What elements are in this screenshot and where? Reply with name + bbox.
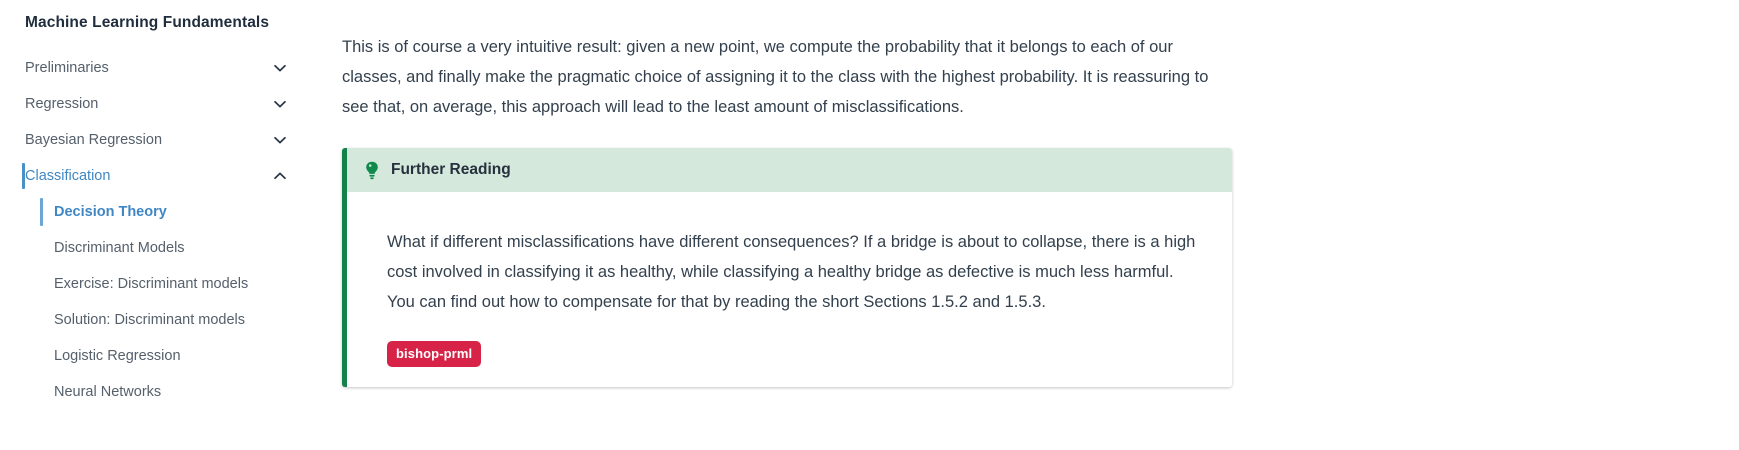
body-paragraph: This is of course a very intuitive resul…: [342, 32, 1232, 122]
status-badge[interactable]: bishop-prml: [387, 341, 481, 367]
sidebar-item-solution-discriminant-models[interactable]: Solution: Discriminant models: [0, 302, 305, 338]
sidebar-item-label: Classification: [25, 166, 110, 186]
chevron-down-icon[interactable]: [272, 60, 288, 76]
sidebar-subitem-label: Decision Theory: [54, 202, 167, 222]
sidebar-item-discriminant-models[interactable]: Discriminant Models: [0, 230, 305, 266]
sidebar-nav: Preliminaries Regression Bayesian Regres…: [0, 50, 305, 410]
callout-tag-list: bishop-prml: [387, 341, 1212, 367]
callout-body: What if different misclassifications hav…: [347, 192, 1232, 387]
chevron-up-icon[interactable]: [272, 168, 288, 184]
chevron-down-icon[interactable]: [272, 96, 288, 112]
sidebar-title: Machine Learning Fundamentals: [0, 8, 305, 34]
sidebar-item-preliminaries[interactable]: Preliminaries: [0, 50, 305, 86]
sidebar-item-label: Regression: [25, 94, 98, 114]
sidebar-subitem-label: Exercise: Discriminant models: [54, 274, 248, 294]
sidebar-item-label: Preliminaries: [25, 58, 109, 78]
callout-header: Further Reading: [347, 148, 1232, 192]
callout-title: Further Reading: [391, 160, 511, 180]
chevron-down-icon[interactable]: [272, 132, 288, 148]
sidebar-subitem-label: Solution: Discriminant models: [54, 310, 245, 330]
sidebar-item-neural-networks[interactable]: Neural Networks: [0, 374, 305, 410]
main-content: This is of course a very intuitive resul…: [305, 0, 1739, 450]
sidebar-subitem-label: Discriminant Models: [54, 238, 185, 258]
app-root: Machine Learning Fundamentals Preliminar…: [0, 0, 1739, 450]
sidebar: Machine Learning Fundamentals Preliminar…: [0, 0, 305, 450]
sidebar-subnav-classification: Decision Theory Discriminant Models Exer…: [0, 194, 305, 410]
sidebar-subitem-label: Logistic Regression: [54, 346, 181, 366]
callout-text: What if different misclassifications hav…: [387, 227, 1199, 317]
sidebar-item-regression[interactable]: Regression: [0, 86, 305, 122]
sidebar-item-label: Bayesian Regression: [25, 130, 162, 150]
sidebar-subitem-label: Neural Networks: [54, 382, 161, 402]
sidebar-item-logistic-regression[interactable]: Logistic Regression: [0, 338, 305, 374]
sidebar-item-exercise-discriminant-models[interactable]: Exercise: Discriminant models: [0, 266, 305, 302]
sidebar-item-bayesian-regression[interactable]: Bayesian Regression: [0, 122, 305, 158]
further-reading-callout: Further Reading What if different miscla…: [342, 148, 1232, 387]
lightbulb-icon: [364, 161, 380, 180]
sidebar-item-classification[interactable]: Classification: [0, 158, 305, 194]
sidebar-item-decision-theory[interactable]: Decision Theory: [0, 194, 305, 230]
